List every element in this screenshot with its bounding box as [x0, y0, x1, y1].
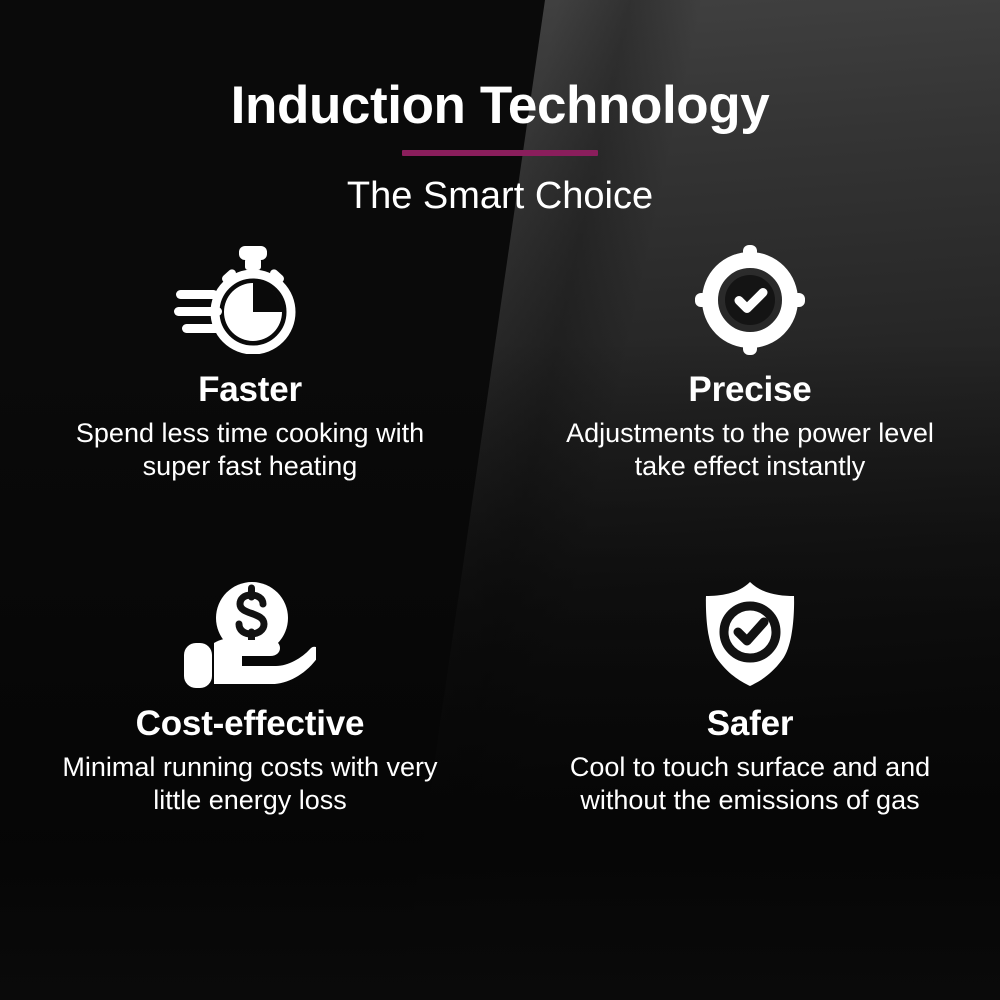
- poster-content: Induction Technology The Smart Choice: [0, 0, 1000, 1000]
- feature-title: Safer: [707, 706, 794, 743]
- hand-coin-dollar-icon: [184, 580, 316, 688]
- feature-grid: Faster Spend less time cooking with supe…: [0, 246, 1000, 896]
- feature-description: Spend less time cooking with super fast …: [40, 417, 460, 483]
- feature-card-safer: Safer Cool to touch surface and and with…: [500, 580, 1000, 896]
- shield-check-icon: [700, 580, 800, 688]
- feature-card-cost-effective: Cost-effective Minimal running costs wit…: [0, 580, 500, 896]
- feature-title: Faster: [198, 372, 302, 409]
- feature-title: Precise: [688, 372, 811, 409]
- feature-description: Minimal running costs with very little e…: [40, 751, 460, 817]
- feature-description: Adjustments to the power level take effe…: [540, 417, 960, 483]
- stopwatch-speed-icon: [174, 246, 326, 354]
- feature-title: Cost-effective: [136, 706, 365, 743]
- feature-card-precise: Precise Adjustments to the power level t…: [500, 246, 1000, 562]
- page-subtitle: The Smart Choice: [0, 176, 1000, 218]
- accent-divider: [402, 150, 598, 156]
- induction-technology-poster: Induction Technology The Smart Choice: [0, 0, 1000, 1000]
- poster-header: Induction Technology The Smart Choice: [0, 78, 1000, 217]
- page-title: Induction Technology: [0, 78, 1000, 134]
- feature-card-faster: Faster Spend less time cooking with supe…: [0, 246, 500, 562]
- crosshair-check-icon: [695, 246, 805, 354]
- feature-description: Cool to touch surface and and without th…: [540, 751, 960, 817]
